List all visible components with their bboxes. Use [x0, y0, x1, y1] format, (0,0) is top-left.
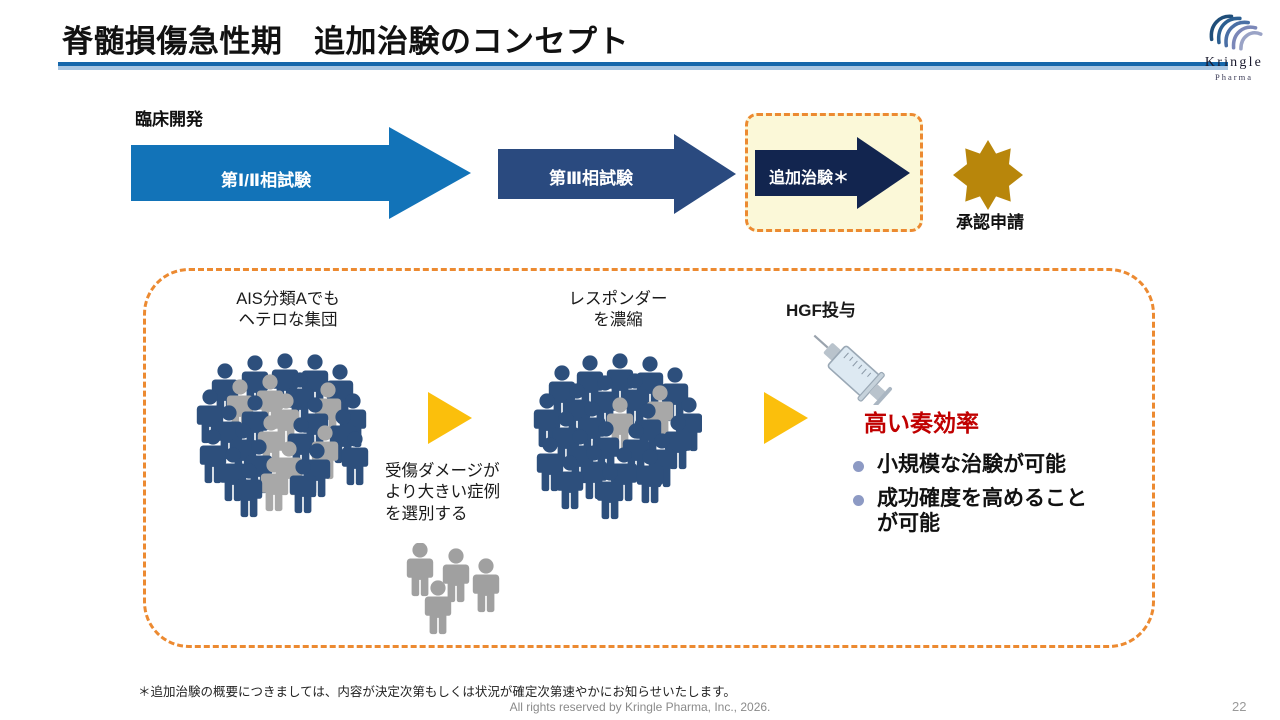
kringle-swirl-logo-icon	[1197, 8, 1270, 54]
people-group-gray-icon	[398, 543, 510, 643]
syringe-icon	[795, 325, 899, 405]
pipeline-stage-3-label: 追加治験＊	[753, 164, 865, 188]
outcome-bullet-label: 成功確度を高めること が可能	[877, 486, 1087, 537]
outcome-bullet-label: 小規模な治験が可能	[877, 452, 1066, 478]
people-crowd-icon	[532, 352, 702, 524]
list-item: 成功確度を高めること が可能	[853, 486, 1153, 537]
page-number: 22	[1232, 699, 1246, 714]
outcome-headline: 高い奏効率	[864, 404, 979, 438]
footnote: ＊追加治験の概要につきましては、内容が決定次第もしくは状況が確定次第速やかにお知…	[138, 681, 736, 700]
copyright-notice: All rights reserved by Kringle Pharma, I…	[0, 700, 1280, 714]
people-crowd-icon	[193, 352, 373, 532]
eight-point-star-icon	[953, 140, 1023, 210]
bullet-dot-icon	[853, 461, 864, 472]
triangle-right-icon	[428, 392, 472, 444]
slide-root: 脊髄損傷急性期 追加治験のコンセプト Kringle Pharma 臨床開発 第…	[0, 0, 1280, 720]
caption-case-selection: 受傷ダメージが より大きい症例 を選別する	[385, 461, 537, 525]
outcome-bullet-list: 小規模な治験が可能 成功確度を高めること が可能	[853, 452, 1153, 545]
logo-company-sub: Pharma	[1192, 72, 1276, 82]
title-rule-secondary	[58, 66, 1228, 70]
list-item: 小規模な治験が可能	[853, 452, 1153, 478]
caption-heterogeneous-population: AIS分類Aでも ヘテロな集団	[213, 289, 363, 331]
bullet-dot-icon	[853, 495, 864, 506]
approval-milestone	[953, 140, 1023, 210]
company-logo: Kringle Pharma	[1192, 8, 1276, 82]
triangle-right-icon	[764, 392, 808, 444]
page-title: 脊髄損傷急性期 追加治験のコンセプト	[62, 16, 629, 61]
caption-hgf-administration: HGF投与	[786, 300, 896, 322]
pipeline-stage-2-label: 第Ⅲ相試験	[498, 164, 684, 189]
logo-company-name: Kringle	[1192, 55, 1276, 71]
approval-label: 承認申請	[938, 208, 1042, 233]
caption-enriched-responders: レスポンダー を濃縮	[548, 289, 688, 331]
pipeline-stage-1-label: 第Ⅰ/Ⅱ相試験	[131, 166, 401, 191]
